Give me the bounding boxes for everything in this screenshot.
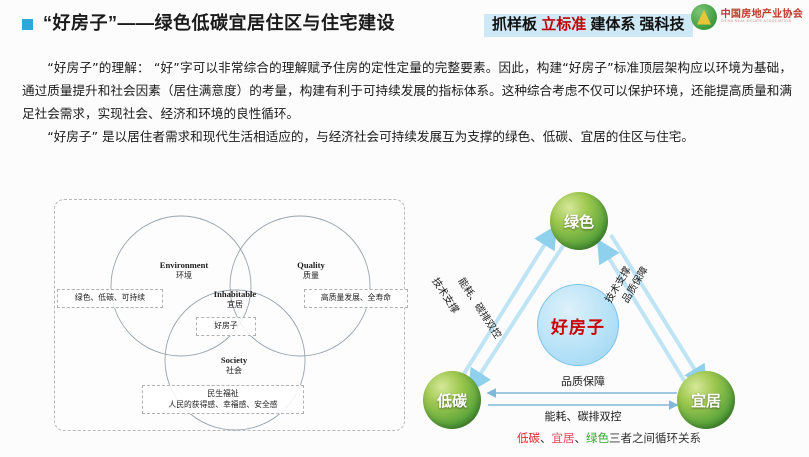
header-banner: 抓样板 立标准 建体系 强科技	[484, 14, 693, 37]
logo-name-en: CHINA REAL ESTATE ASSOCIATION	[721, 20, 803, 24]
logo-text-block: 中国房地产业协会 CHINA REAL ESTATE ASSOCIATION	[721, 10, 803, 24]
slide-canvas: “好房子”——绿色低碳宜居住区与住宅建设 抓样板 立标准 建体系 强科技 中国房…	[0, 0, 809, 457]
venn-box-environment: 绿色、低碳、可持续	[57, 289, 163, 308]
organization-logo: 中国房地产业协会 CHINA REAL ESTATE ASSOCIATION	[691, 4, 803, 30]
slide-header: “好房子”——绿色低碳宜居住区与住宅建设 抓样板 立标准 建体系 强科技 中国房…	[0, 0, 809, 46]
title-bullet-icon	[22, 19, 33, 30]
triangle-node-low-carbon[interactable]: 低碳	[423, 371, 481, 429]
body-text-block: “好房子”的理解： “好”字可以非常综合的理解赋予住房的定性定量的完整要素。因此…	[22, 56, 792, 148]
page-title: “好房子”——绿色低碳宜居住区与住宅建设	[43, 9, 395, 35]
edge-label-bottom-top: 品质保障	[503, 373, 663, 389]
triangle-diagram-panel: 绿色 低碳 宜居 好房子 技术支撑 能耗、碳排双控 技术支撑 品质保障 品质保障…	[415, 190, 809, 457]
paragraph-1: “好房子”的理解： “好”字可以非常综合的理解赋予住房的定性定量的完整要素。因此…	[22, 56, 792, 125]
venn-label-quality-cn: 质量	[271, 271, 351, 281]
venn-box-society-line1: 民生福祉	[147, 389, 299, 400]
venn-box-society: 民生福祉 人民的获得感、幸福感、安全感	[142, 385, 304, 414]
caption-part-2: 宜居	[552, 431, 575, 445]
triangle-node-green[interactable]: 绿色	[550, 192, 608, 250]
venn-label-environment: Environment 环境	[139, 260, 229, 281]
banner-seg-2: 立标准	[541, 16, 586, 33]
venn-diagram-panel: Environment 环境 Quality 质量 Society 社会 Inh…	[54, 199, 405, 431]
caption-sep-1: 、	[540, 431, 552, 445]
caption-sep-2: 、	[575, 431, 587, 445]
edge-label-bottom-bottom: 能耗、碳排双控	[493, 408, 673, 424]
venn-label-quality-en: Quality	[271, 260, 351, 271]
venn-label-society: Society 社会	[194, 355, 274, 376]
venn-label-society-cn: 社会	[194, 366, 274, 376]
triangle-node-livable[interactable]: 宜居	[677, 371, 735, 429]
venn-label-inhabitable: Inhabitable 宜居	[192, 289, 278, 310]
venn-label-inhabitable-cn: 宜居	[192, 300, 278, 310]
caption-part-3: 绿色	[586, 431, 609, 445]
venn-label-quality: Quality 质量	[271, 260, 351, 281]
banner-seg-1: 抓样板	[492, 16, 537, 33]
caption-part-4: 三者之间循环关系	[609, 431, 701, 445]
venn-label-inhabitable-en: Inhabitable	[192, 289, 278, 300]
banner-seg-3: 建体系 强科技	[590, 16, 684, 33]
venn-label-society-en: Society	[194, 355, 274, 366]
paragraph-2: “好房子” 是以居住者需求和现代生活相适应的，与经济社会可持续发展互为支撑的绿色…	[22, 125, 792, 148]
pagoda-shape-icon	[697, 10, 711, 25]
caption-part-1: 低碳	[517, 431, 540, 445]
association-emblem-icon	[691, 4, 717, 30]
venn-box-society-line2: 人民的获得感、幸福感、安全感	[147, 400, 299, 411]
venn-label-environment-cn: 环境	[139, 271, 229, 281]
venn-box-quality: 高质量发展、全寿命	[304, 289, 408, 308]
venn-box-center: 好房子	[196, 317, 256, 336]
venn-label-environment-en: Environment	[139, 260, 229, 271]
triangle-caption: 低碳、宜居、绿色三者之间循环关系	[449, 430, 769, 446]
